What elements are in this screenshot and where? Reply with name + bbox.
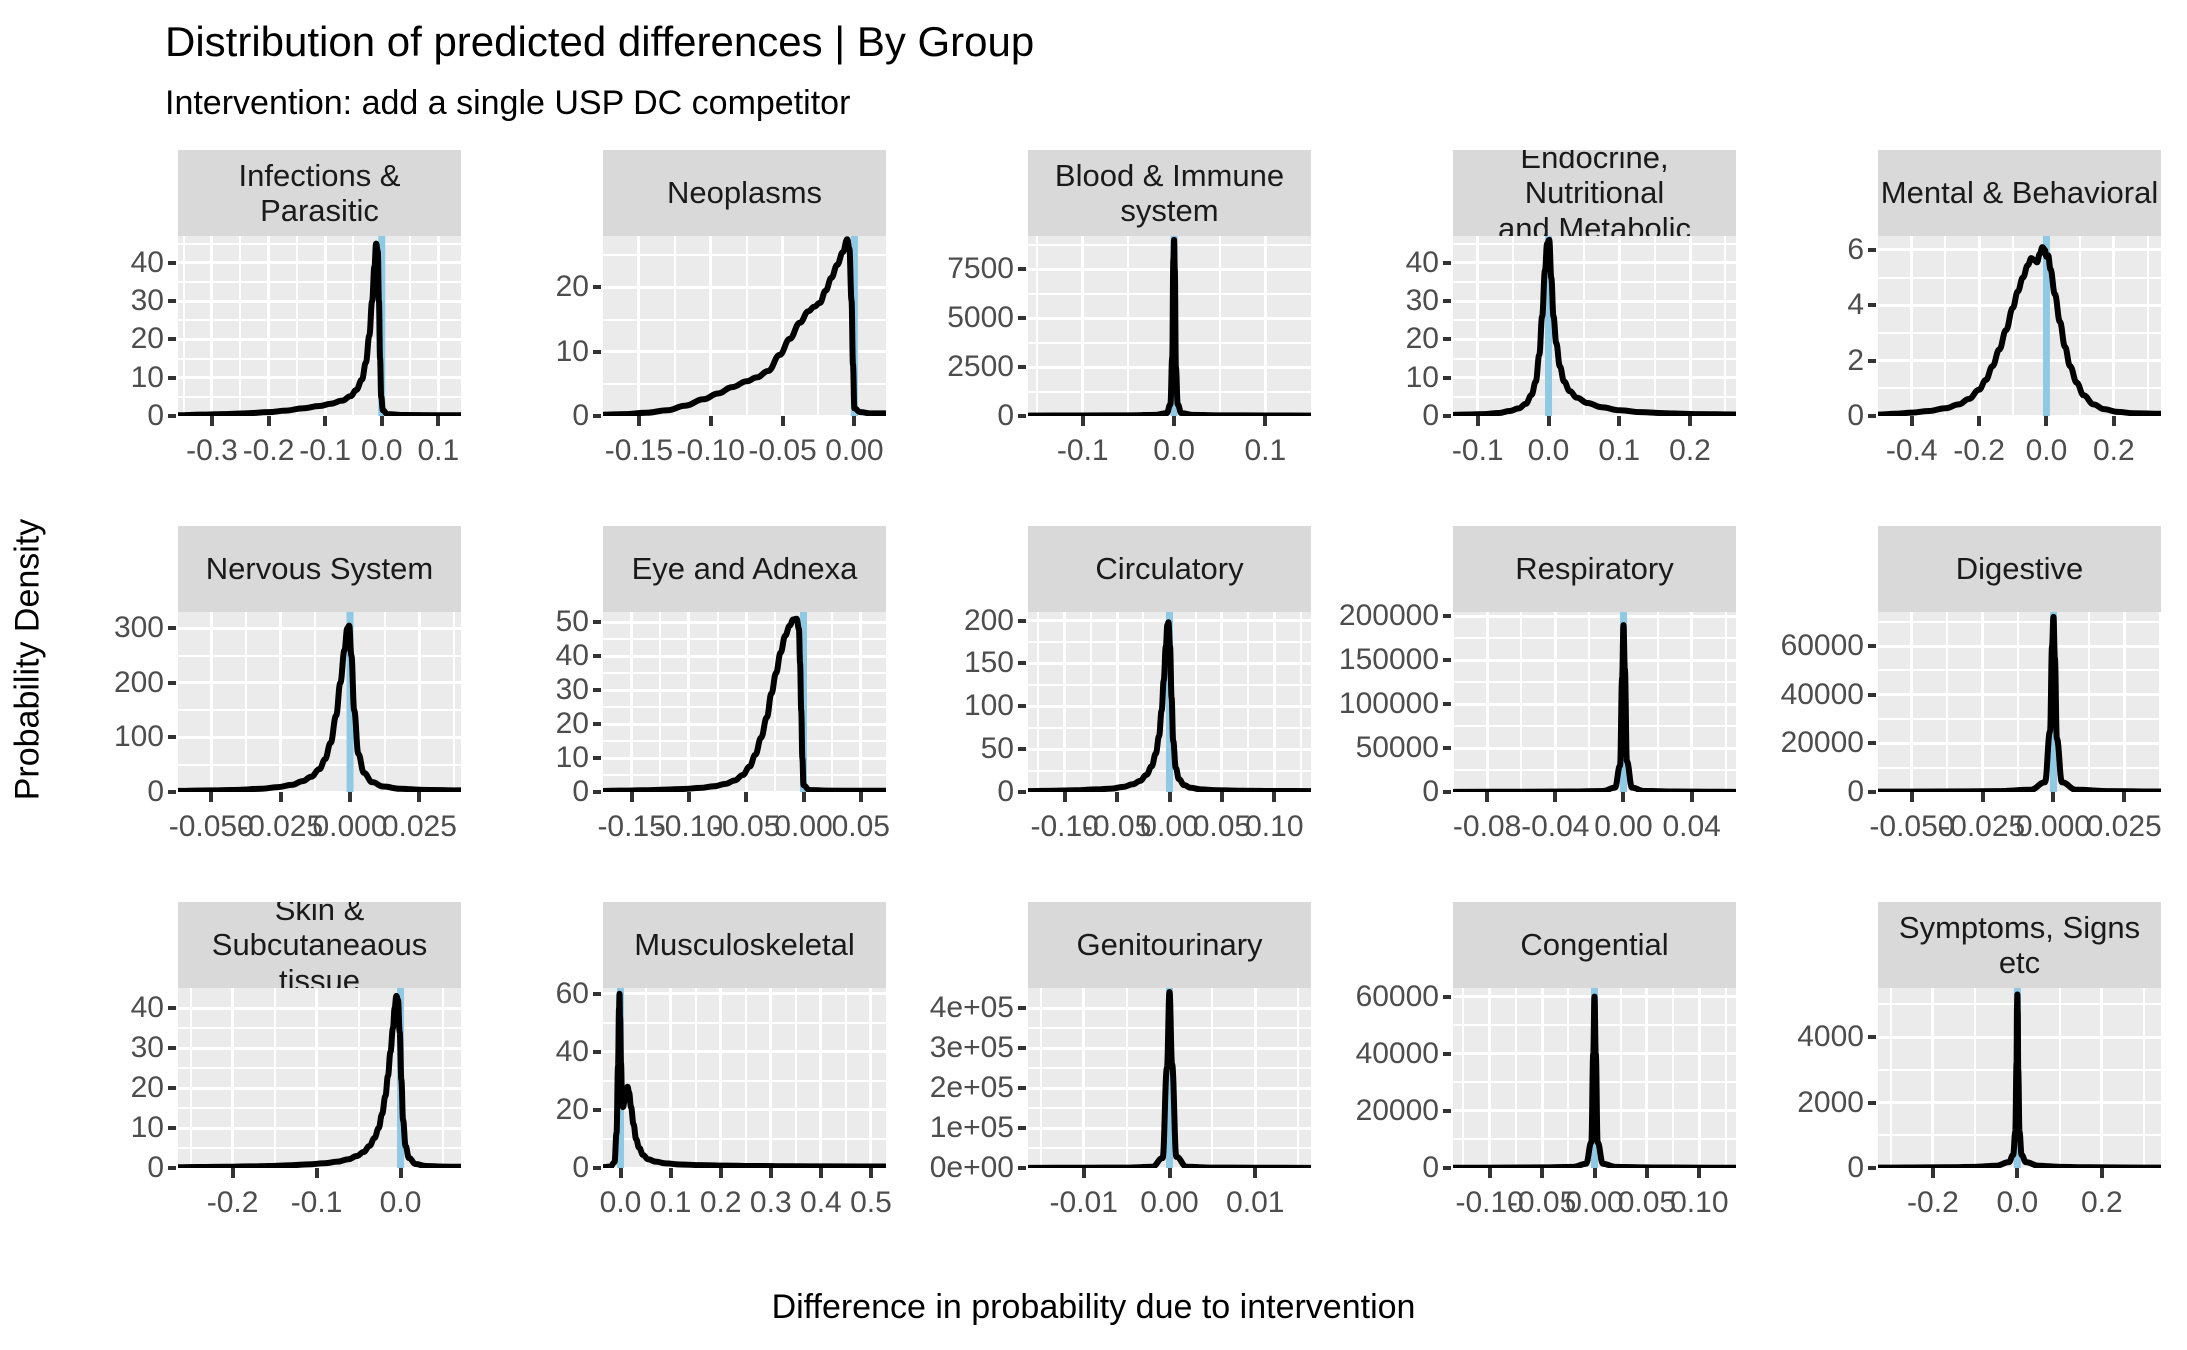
facet-strip-label: Genitourinary [1076, 927, 1262, 962]
x-axis-tick [279, 792, 283, 802]
x-axis-tick [2044, 416, 2048, 426]
facet-strip: Mental & Behavioral [1878, 150, 2161, 236]
x-axis-tick-label: -0.04 [1521, 810, 1589, 844]
density-curve [1878, 247, 2161, 415]
x-axis-tick-label: 0.04 [1662, 810, 1720, 844]
facet-strip: Circulatory [1028, 526, 1311, 612]
x-axis-tick-label: 0.2 [1669, 434, 1711, 468]
x-axis-tick [1253, 1168, 1257, 1178]
x-axis-tick-label: -0.1 [1057, 434, 1109, 468]
y-axis-tick [1018, 704, 1026, 708]
x-axis-tick-label: 0.0 [380, 1186, 422, 1220]
y-axis-tick-label: 30 [485, 673, 589, 707]
facet-strip-label: Respiratory [1515, 551, 1674, 586]
facet-strip: Congential [1453, 902, 1736, 988]
plot-panel [603, 612, 886, 792]
facet-grid: Infections & Parasitic010203040-0.3-0.2-… [60, 150, 2187, 1280]
density-curve-layer [603, 988, 886, 1168]
y-axis-tick [1868, 693, 1876, 697]
y-axis-tick [1443, 995, 1451, 999]
plot-panel [1878, 988, 2161, 1168]
plot-panel [1028, 988, 1311, 1168]
x-axis-tick [1485, 792, 1489, 802]
y-axis-tick-label: 200 [60, 666, 164, 700]
density-curve-layer [1453, 236, 1736, 416]
x-axis-tick-label: 0.05 [1618, 1186, 1676, 1220]
plot-panel [178, 236, 461, 416]
facet-strip: Skin & Subcutaneaous tissue [178, 902, 461, 988]
y-axis-tick-label: 0 [485, 399, 589, 433]
x-axis-tick-label: 0.0 [2026, 434, 2068, 468]
facet-panel: Infections & Parasitic010203040-0.3-0.2-… [60, 150, 461, 516]
density-curve-layer [1453, 988, 1736, 1168]
y-axis-tick-label: 0 [1760, 775, 1864, 809]
y-axis-tick [1018, 661, 1026, 665]
y-axis-tick-label: 20 [485, 707, 589, 741]
y-axis-tick [593, 414, 601, 418]
facet-panel: Nervous System0100200300-0.050-0.0250.00… [60, 526, 461, 892]
plot-title: Distribution of predicted differences | … [165, 18, 1034, 66]
y-axis-tick [168, 414, 176, 418]
facet-strip: Endocrine, Nutritional and Metabolic [1453, 150, 1736, 236]
density-curve [1878, 617, 2161, 792]
y-axis-tick [1443, 299, 1451, 303]
y-axis-tick-label: 40 [60, 991, 164, 1025]
x-axis-tick-label: -0.08 [1453, 810, 1521, 844]
x-axis-tick [1263, 416, 1267, 426]
facet-panel: Musculoskeletal02040600.00.10.20.30.40.5 [485, 902, 886, 1268]
x-axis-tick [348, 792, 352, 802]
x-axis-tick-label: 0.01 [1226, 1186, 1284, 1220]
x-axis-tick [1115, 792, 1119, 802]
y-axis-tick [1868, 303, 1876, 307]
plot-panel [1878, 612, 2161, 792]
y-axis-tick-label: 20 [60, 1071, 164, 1105]
y-axis-tick [593, 1108, 601, 1112]
x-axis-tick [209, 792, 213, 802]
x-axis-tick-label: -0.4 [1886, 434, 1938, 468]
x-axis-tick [744, 792, 748, 802]
y-axis-tick [1018, 267, 1026, 271]
x-axis-tick [1540, 1168, 1544, 1178]
x-axis-tick [1931, 1168, 1935, 1178]
y-axis-tick-label: 40000 [1335, 1037, 1439, 1071]
y-axis-tick [593, 654, 601, 658]
facet-panel: Eye and Adnexa01020304050-0.15-0.10-0.05… [485, 526, 886, 892]
x-axis-tick [630, 792, 634, 802]
y-axis-tick [168, 1166, 176, 1170]
y-axis-tick-label: 60 [485, 977, 589, 1011]
density-curve-layer [1878, 236, 2161, 416]
facet-panel: Digestive0200004000060000-0.050-0.0250.0… [1760, 526, 2161, 892]
y-axis-tick-label: 6 [1760, 233, 1864, 267]
x-axis-tick-label: 0.10 [1670, 1186, 1728, 1220]
x-axis-tick [417, 792, 421, 802]
y-axis-tick [1443, 1109, 1451, 1113]
y-axis-tick [1868, 248, 1876, 252]
x-axis-tick [1690, 792, 1694, 802]
plot-panel [1453, 988, 1736, 1168]
y-axis-tick-label: 20000 [1760, 726, 1864, 760]
plot-panel [1028, 236, 1311, 416]
x-axis-tick-label: 0.1 [1244, 434, 1286, 468]
plot-panel [1028, 612, 1311, 792]
y-axis-tick [1443, 702, 1451, 706]
x-axis-tick [380, 416, 384, 426]
x-axis-tick [1063, 792, 1067, 802]
y-axis-tick-label: 30 [1335, 284, 1439, 318]
x-axis-tick-label: 0.4 [800, 1186, 842, 1220]
x-axis-tick-label: 0.2 [2081, 1186, 2123, 1220]
y-axis-tick [1443, 414, 1451, 418]
x-axis-tick-label: 0.000 [2016, 810, 2091, 844]
y-axis-tick-label: 40000 [1760, 678, 1864, 712]
x-axis-tick-label: 0.00 [1140, 810, 1198, 844]
y-axis-tick-label: 20000 [1335, 1094, 1439, 1128]
y-axis-tick [1443, 790, 1451, 794]
facet-panel: Mental & Behavioral0246-0.4-0.20.00.2 [1760, 150, 2161, 516]
y-axis-tick-label: 20 [485, 1093, 589, 1127]
plot-panel [1878, 236, 2161, 416]
x-axis-tick [1621, 792, 1625, 802]
facet-strip-label: Digestive [1956, 551, 2084, 586]
x-axis-tick [1697, 1168, 1701, 1178]
y-axis-tick-label: 40 [485, 639, 589, 673]
y-axis-tick [1868, 414, 1876, 418]
x-axis-tick [1977, 416, 1981, 426]
y-axis-tick-label: 0 [910, 775, 1014, 809]
y-axis-tick [1868, 644, 1876, 648]
facet-panel: Genitourinary0e+001e+052e+053e+054e+05-0… [910, 902, 1311, 1268]
density-curve [1028, 622, 1311, 791]
y-axis-tick-label: 100000 [1335, 687, 1439, 721]
facet-panel: Symptoms, Signs etc020004000-0.20.00.2 [1760, 902, 2161, 1268]
y-axis-tick [168, 735, 176, 739]
density-curve [178, 626, 461, 791]
facet-panel: Endocrine, Nutritional and Metabolic0102… [1335, 150, 1736, 516]
y-axis-tick-label: 0 [60, 399, 164, 433]
y-axis-tick-label: 10 [485, 335, 589, 369]
facet-strip: Neoplasms [603, 150, 886, 236]
density-curve [1453, 240, 1736, 415]
x-axis-tick-label: 0.025 [2087, 810, 2162, 844]
plot-panel [1453, 236, 1736, 416]
facet-strip-label: Musculoskeletal [634, 927, 855, 962]
y-axis-tick-label: 40 [1335, 246, 1439, 280]
density-curve [1028, 240, 1311, 416]
y-axis-tick-label: 2000 [1760, 1086, 1864, 1120]
x-axis-tick [1645, 1168, 1649, 1178]
y-axis-tick-label: 0 [60, 775, 164, 809]
x-axis-tick [1081, 416, 1085, 426]
y-axis-tick-label: 50000 [1335, 731, 1439, 765]
x-axis-tick [1172, 416, 1176, 426]
x-axis-tick-label: 0.05 [832, 810, 890, 844]
x-axis-tick-label: -0.2 [1907, 1186, 1959, 1220]
facet-strip-label: Mental & Behavioral [1881, 175, 2158, 210]
density-curve-layer [603, 236, 886, 416]
x-axis-tick [1168, 1168, 1172, 1178]
facet-strip: Digestive [1878, 526, 2161, 612]
density-curve [1453, 997, 1736, 1168]
y-axis-tick [1018, 316, 1026, 320]
facet-panel: Blood & Immune system0250050007500-0.10.… [910, 150, 1311, 516]
y-axis-tick-label: 2 [1760, 344, 1864, 378]
x-axis-tick-label: 0.2 [2093, 434, 2135, 468]
plot-panel [1453, 612, 1736, 792]
y-axis-tick-label: 4e+05 [910, 991, 1014, 1025]
x-axis-tick [769, 1168, 773, 1178]
facet-strip-label: Eye and Adnexa [632, 551, 858, 586]
facet-strip: Blood & Immune system [1028, 150, 1311, 236]
y-axis-tick-label: 40 [485, 1035, 589, 1069]
x-axis-tick [1168, 792, 1172, 802]
y-axis-tick [168, 1006, 176, 1010]
facet-strip-label: Neoplasms [667, 175, 822, 210]
x-axis-tick-label: 0.000 [312, 810, 387, 844]
y-axis-tick-label: 4 [1760, 288, 1864, 322]
y-axis-tick [1018, 1126, 1026, 1130]
y-axis-tick-label: 0 [910, 399, 1014, 433]
density-curve-layer [178, 612, 461, 792]
y-axis-tick [1443, 261, 1451, 265]
y-axis-tick-label: 200 [910, 604, 1014, 638]
x-axis-tick-label: 0.00 [1565, 1186, 1623, 1220]
y-axis-tick-label: 20 [485, 270, 589, 304]
x-axis-tick [869, 1168, 873, 1178]
y-axis-tick-label: 0 [1335, 399, 1439, 433]
y-axis-tick [1018, 414, 1026, 418]
x-axis-tick [802, 792, 806, 802]
y-axis-title: Probability Density [9, 310, 48, 1010]
x-axis-tick-label: -0.1 [291, 1186, 343, 1220]
x-axis-tick-label: -0.10 [677, 434, 745, 468]
x-axis-tick [315, 1168, 319, 1178]
facet-strip: Eye and Adnexa [603, 526, 886, 612]
x-axis-tick-label: 0.1 [1598, 434, 1640, 468]
y-axis-tick [1443, 376, 1451, 380]
y-axis-tick [168, 261, 176, 265]
facet-strip-label: Blood & Immune system [1028, 158, 1311, 229]
density-curve [603, 239, 886, 415]
y-axis-tick [168, 1126, 176, 1130]
y-axis-tick-label: 3e+05 [910, 1031, 1014, 1065]
x-axis-tick [1910, 416, 1914, 426]
plot-panel [178, 988, 461, 1168]
x-axis-tick-label: 0.1 [418, 434, 460, 468]
x-axis-tick-label: -0.05 [712, 810, 780, 844]
x-axis-tick-label: 0.5 [850, 1186, 892, 1220]
y-axis-tick [593, 790, 601, 794]
facet-strip-label: Congential [1520, 927, 1668, 962]
y-axis-tick-label: 150 [910, 646, 1014, 680]
y-axis-tick-label: 5000 [910, 301, 1014, 335]
y-axis-tick-label: 7500 [910, 252, 1014, 286]
y-axis-tick [593, 350, 601, 354]
y-axis-tick-label: 20 [1335, 322, 1439, 356]
x-axis-tick-label: 0.0 [1153, 434, 1195, 468]
density-curve [1453, 625, 1736, 792]
y-axis-tick-label: 0 [485, 1151, 589, 1185]
y-axis-tick-label: 1e+05 [910, 1111, 1014, 1145]
facet-strip: Infections & Parasitic [178, 150, 461, 236]
facet-strip-label: Circulatory [1095, 551, 1243, 586]
facet-strip: Nervous System [178, 526, 461, 612]
density-curve-layer [178, 988, 461, 1168]
y-axis-tick [168, 299, 176, 303]
y-axis-tick [168, 1046, 176, 1050]
y-axis-tick [593, 1166, 601, 1170]
x-axis-tick-label: 0.00 [1594, 810, 1652, 844]
y-axis-tick-label: 10 [60, 361, 164, 395]
y-axis-tick-label: 40 [60, 246, 164, 280]
density-curve [178, 996, 461, 1167]
facet-strip-label: Nervous System [206, 551, 433, 586]
y-axis-tick [593, 722, 601, 726]
x-axis-tick-label: -0.15 [605, 434, 673, 468]
plot-subtitle: Intervention: add a single USP DC compet… [165, 84, 850, 123]
y-axis-tick [1018, 365, 1026, 369]
x-axis-tick [709, 416, 713, 426]
y-axis-tick-label: 0e+00 [910, 1151, 1014, 1185]
facet-strip: Genitourinary [1028, 902, 1311, 988]
x-axis-tick-label: -0.1 [299, 434, 351, 468]
x-axis-tick [619, 1168, 623, 1178]
y-axis-tick-label: 10 [485, 741, 589, 775]
x-axis-tick-label: -0.3 [186, 434, 238, 468]
y-axis-tick [593, 1050, 601, 1054]
x-axis-tick-label: 0.10 [1245, 810, 1303, 844]
density-curve [603, 994, 886, 1167]
facet-strip: Respiratory [1453, 526, 1736, 612]
x-axis-tick [399, 1168, 403, 1178]
facet-panel: Respiratory050000100000150000200000-0.08… [1335, 526, 1736, 892]
x-axis-tick [2112, 416, 2116, 426]
x-axis-tick [1910, 792, 1914, 802]
y-axis-tick [1018, 619, 1026, 623]
x-axis-tick [1617, 416, 1621, 426]
y-axis-tick-label: 200000 [1335, 599, 1439, 633]
y-axis-tick [1018, 1006, 1026, 1010]
y-axis-tick-label: 0 [1335, 1151, 1439, 1185]
facet-strip: Musculoskeletal [603, 902, 886, 988]
y-axis-tick [593, 285, 601, 289]
facet-strip-label: Infections & Parasitic [178, 158, 461, 229]
x-axis-tick [323, 416, 327, 426]
y-axis-tick [1443, 1166, 1451, 1170]
x-axis-tick [1488, 1168, 1492, 1178]
facet-strip-label: Endocrine, Nutritional and Metabolic [1453, 150, 1736, 236]
y-axis-tick-label: 10 [1335, 361, 1439, 395]
y-axis-tick [1868, 790, 1876, 794]
y-axis-tick-label: 10 [60, 1111, 164, 1145]
x-axis-tick [267, 416, 271, 426]
x-axis-tick [719, 1168, 723, 1178]
density-curve-layer [1878, 988, 2161, 1168]
x-axis-tick-label: 0.1 [650, 1186, 692, 1220]
x-axis-tick-label: 0.00 [1140, 1186, 1198, 1220]
x-axis-tick [2051, 792, 2055, 802]
x-axis-tick [2122, 792, 2126, 802]
y-axis-tick-label: 30 [60, 1031, 164, 1065]
x-axis-tick-label: -0.2 [207, 1186, 259, 1220]
y-axis-tick [593, 992, 601, 996]
density-curve [1028, 992, 1311, 1168]
y-axis-tick-label: 2500 [910, 350, 1014, 384]
y-axis-tick-label: 60000 [1335, 980, 1439, 1014]
x-axis-tick [859, 792, 863, 802]
y-axis-tick-label: 150000 [1335, 643, 1439, 677]
x-axis-tick [1272, 792, 1276, 802]
x-axis-tick-label: -0.025 [238, 810, 323, 844]
x-axis-tick [669, 1168, 673, 1178]
density-curve-layer [178, 236, 461, 416]
y-axis-tick-label: 30 [60, 284, 164, 318]
y-axis-tick [168, 626, 176, 630]
y-axis-tick-label: 4000 [1760, 1020, 1864, 1054]
density-curve-layer [1878, 612, 2161, 792]
density-curve [603, 619, 886, 791]
y-axis-tick [1018, 747, 1026, 751]
facet-panel: Congential0200004000060000-0.10-0.050.00… [1335, 902, 1736, 1268]
x-axis-tick [1547, 416, 1551, 426]
x-axis-tick [687, 792, 691, 802]
density-curve-layer [1028, 236, 1311, 416]
density-curve [178, 244, 461, 416]
y-axis-tick-label: 0 [60, 1151, 164, 1185]
facet-panel: Skin & Subcutaneaous tissue010203040-0.2… [60, 902, 461, 1268]
y-axis-tick [168, 681, 176, 685]
x-axis-tick-label: -0.01 [1050, 1186, 1118, 1220]
x-axis-tick [231, 1168, 235, 1178]
x-axis-tick-label: 0.0 [600, 1186, 642, 1220]
x-axis-tick [819, 1168, 823, 1178]
y-axis-tick-label: 2e+05 [910, 1071, 1014, 1105]
y-axis-tick-label: 100 [910, 689, 1014, 723]
x-axis-tick [781, 416, 785, 426]
y-axis-tick [1868, 1101, 1876, 1105]
x-axis-tick [2015, 1168, 2019, 1178]
y-axis-tick [168, 337, 176, 341]
y-axis-tick [1868, 359, 1876, 363]
x-axis-tick-label: 0.00 [825, 434, 883, 468]
x-axis-tick-label: -0.05 [748, 434, 816, 468]
x-axis-tick-label: 0.2 [700, 1186, 742, 1220]
y-axis-tick [1443, 746, 1451, 750]
y-axis-tick [1018, 1086, 1026, 1090]
y-axis-tick-label: 0 [485, 775, 589, 809]
x-axis-tick [210, 416, 214, 426]
x-axis-tick-label: -0.025 [1940, 810, 2025, 844]
x-axis-tick [1476, 416, 1480, 426]
y-axis-tick-label: 300 [60, 611, 164, 645]
plot-panel [603, 236, 886, 416]
y-axis-tick [1018, 1046, 1026, 1050]
density-curve-layer [1028, 612, 1311, 792]
x-axis-tick-label: 0.3 [750, 1186, 792, 1220]
x-axis-tick [1688, 416, 1692, 426]
x-axis-title: Difference in probability due to interve… [0, 1288, 2187, 1327]
plot-panel [603, 988, 886, 1168]
facet-strip-label: Skin & Subcutaneaous tissue [178, 902, 461, 988]
y-axis-tick [1868, 1166, 1876, 1170]
y-axis-tick [593, 756, 601, 760]
plot-panel [178, 612, 461, 792]
y-axis-tick [1443, 337, 1451, 341]
y-axis-tick-label: 0 [1760, 1151, 1864, 1185]
x-axis-tick [637, 416, 641, 426]
y-axis-tick [1868, 741, 1876, 745]
